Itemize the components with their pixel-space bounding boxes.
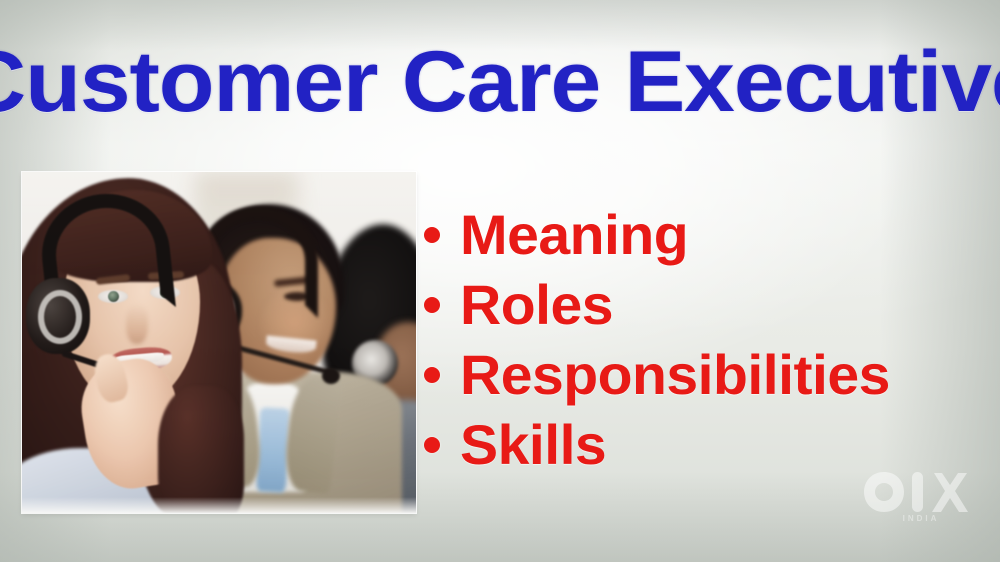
bullet-dot-icon	[424, 227, 440, 243]
call-center-photo	[22, 172, 416, 513]
middle-agent-tie	[256, 407, 290, 492]
bullet-label: Skills	[460, 417, 606, 473]
olx-watermark-sub: INDIA	[862, 514, 980, 523]
slide-title: Customer Care Executive	[0, 41, 1000, 124]
bullet-label: Roles	[460, 277, 613, 333]
list-item: Responsibilities	[424, 340, 984, 410]
list-item: Meaning	[424, 200, 984, 270]
slide-title-container: Customer Care Executive	[0, 34, 1000, 130]
olx-watermark: INDIA	[862, 470, 980, 540]
bullet-label: Meaning	[460, 207, 688, 263]
list-item: Roles	[424, 270, 984, 340]
foreground-agent-hair-front	[158, 386, 244, 513]
topic-bullet-list: Meaning Roles Responsibilities Skills	[424, 200, 984, 480]
bullet-dot-icon	[424, 367, 440, 383]
bullet-label: Responsibilities	[460, 347, 890, 403]
list-item: Skills	[424, 410, 984, 480]
foreground-agent-earcup-ring	[38, 290, 82, 344]
bullet-dot-icon	[424, 297, 440, 313]
presentation-slide: Customer Care Executive	[0, 0, 1000, 562]
photo-inner	[22, 172, 416, 513]
bullet-dot-icon	[424, 437, 440, 453]
middle-agent-microphone	[322, 368, 340, 384]
